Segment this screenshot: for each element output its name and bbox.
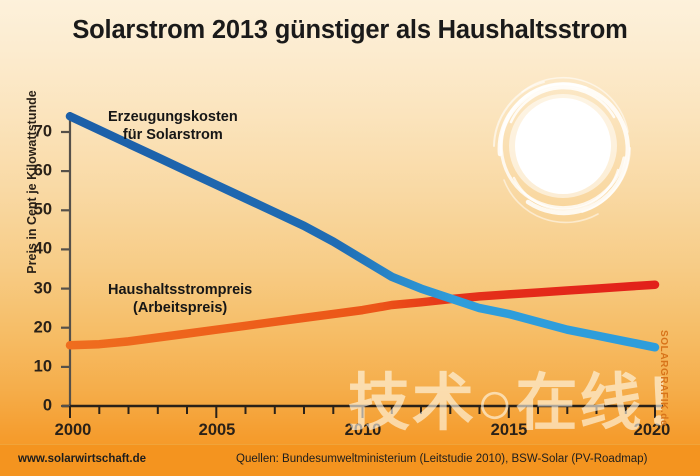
series-label-household: Haushaltsstrompreis (Arbeitspreis) — [108, 281, 252, 317]
x-tick-2010: 2010 — [345, 421, 382, 440]
x-axis-tick-labels: 2000 2005 2010 2015 2020 — [0, 0, 700, 476]
footer-website[interactable]: www.solarwirtschaft.de — [18, 453, 146, 465]
series-label-household-line1: Haushaltsstrompreis — [108, 281, 252, 299]
infographic-root: Solarstrom 2013 günstiger als Haushaltss… — [0, 0, 700, 476]
series-label-solar-line1: Erzeugungskosten — [108, 108, 238, 126]
series-label-solar: Erzeugungskosten für Solarstrom — [108, 108, 238, 144]
series-label-household-line2: (Arbeitspreis) — [108, 299, 252, 317]
series-label-solar-line2: für Solarstrom — [108, 126, 238, 144]
x-tick-2015: 2015 — [491, 421, 528, 440]
x-tick-2005: 2005 — [199, 421, 236, 440]
x-tick-2020: 2020 — [634, 421, 671, 440]
footer-sources: Quellen: Bundesumweltministerium (Leitst… — [236, 453, 647, 465]
x-tick-2000: 2000 — [55, 421, 92, 440]
footer-bar: www.solarwirtschaft.de Quellen: Bundesum… — [0, 444, 700, 476]
